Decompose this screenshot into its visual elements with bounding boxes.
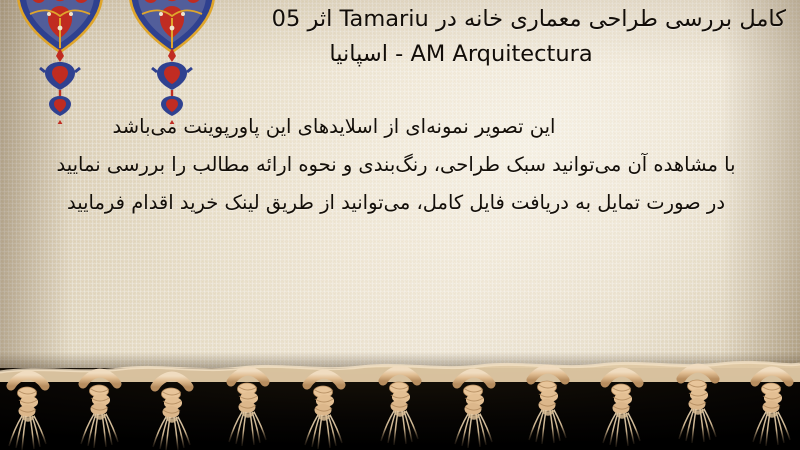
slide-body-text: این تصویر نمونه‌ای از اسلایدهای این پاور… [6,108,792,222]
slide-title-line-1: کامل بررسی طراحی معماری خانه در Tamariu … [86,2,786,37]
slide-body-line-3: در صورت تمایل به دریافت فایل کامل، می‌تو… [6,184,792,222]
slide-title: کامل بررسی طراحی معماری خانه در Tamariu … [86,2,786,72]
slide-title-line-2: AM Arquitectura - اسپانیا [86,37,786,72]
slide-canvas: کامل بررسی طراحی معماری خانه در Tamariu … [0,0,800,450]
slide-body-line-1: این تصویر نمونه‌ای از اسلایدهای این پاور… [6,108,792,146]
slide-body-line-2: با مشاهده آن می‌توانید سبک طراحی، رنگ‌بن… [6,146,792,184]
black-background-ground [0,368,800,450]
